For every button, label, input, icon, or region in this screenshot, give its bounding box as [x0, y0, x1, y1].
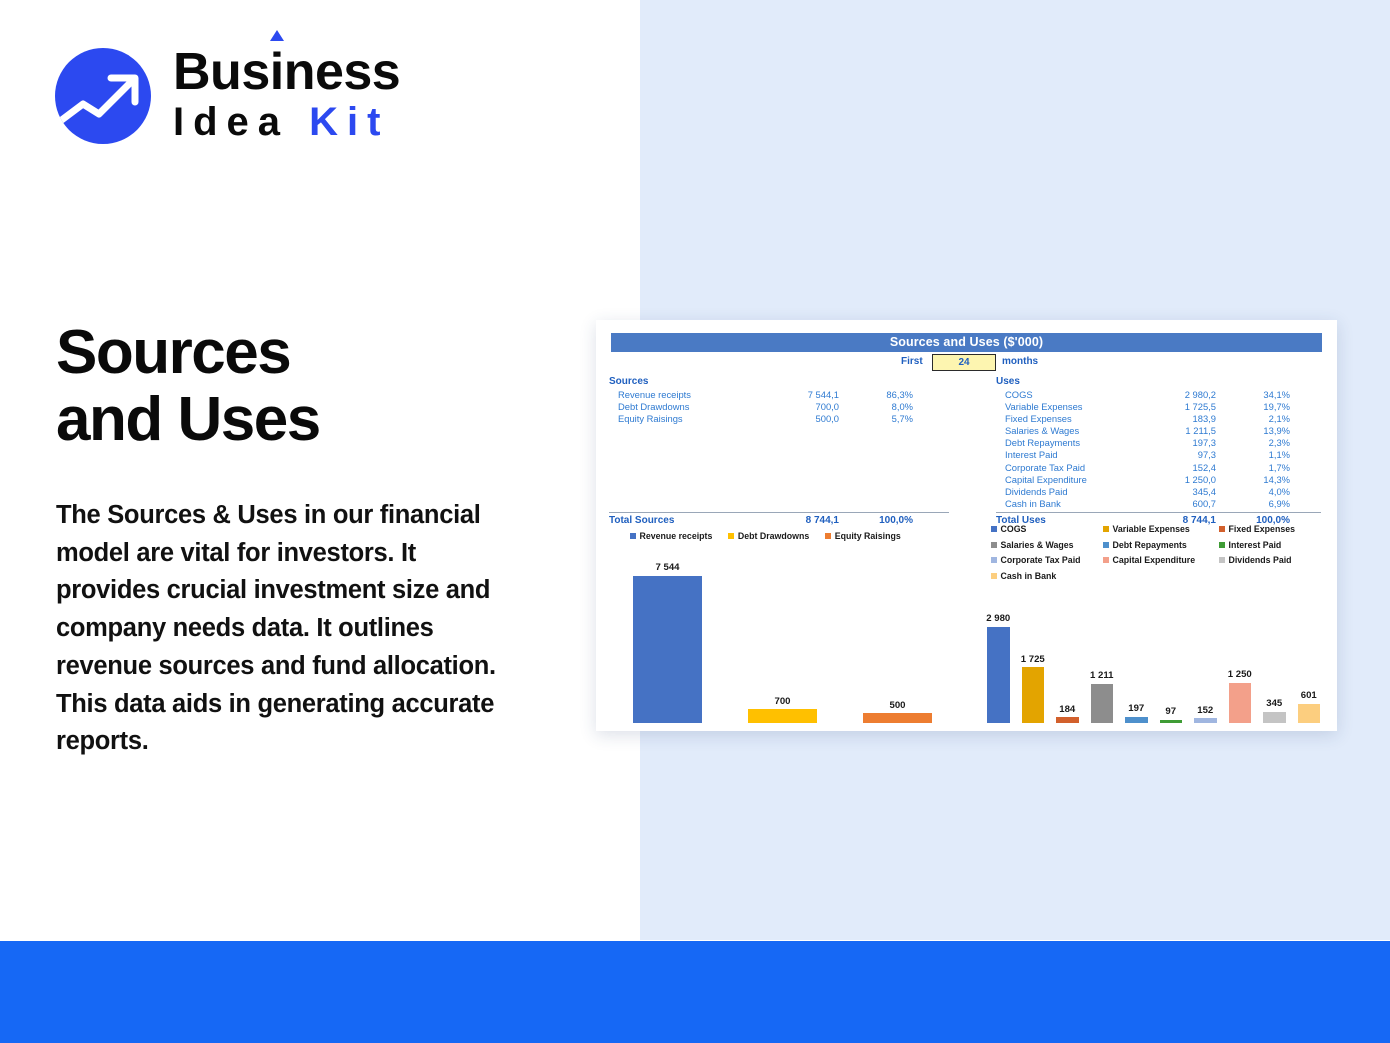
bar-value-label: 2 980 — [986, 613, 1010, 624]
brand-word-idea: Idea — [173, 100, 309, 144]
sources-total-pct: 100,0% — [859, 515, 913, 526]
uses-row-value: 1 250,0 — [1146, 474, 1216, 485]
bar — [987, 627, 1010, 723]
bar — [633, 576, 702, 723]
brand-word-kit: Kit — [309, 100, 389, 144]
legend-item: Corporate Tax Paid — [991, 555, 1103, 565]
uses-row-pct: 14,3% — [1236, 474, 1290, 485]
bar — [1091, 684, 1114, 723]
legend-item: Debt Repayments — [1103, 540, 1219, 550]
sources-row-value: 7 544,1 — [769, 389, 839, 400]
legend-label: Fixed Expenses — [1229, 524, 1296, 534]
brand-logo: Business Idea Kit — [55, 48, 400, 144]
bar-group: 184 — [1050, 573, 1085, 723]
bar-value-label: 1 211 — [1090, 670, 1113, 681]
legend-swatch — [1103, 526, 1109, 532]
uses-row-pct: 1,1% — [1236, 449, 1290, 460]
sources-row-value: 700,0 — [769, 401, 839, 412]
legend-swatch — [991, 542, 997, 548]
bar — [1125, 717, 1148, 723]
period-selector-row: First 24 months — [596, 356, 1337, 373]
bar-value-label: 184 — [1059, 704, 1075, 715]
legend-item: Fixed Expenses — [1219, 524, 1319, 534]
bar-value-label: 1 725 — [1021, 654, 1045, 665]
uses-row-value: 152,4 — [1146, 462, 1216, 473]
bar-group: 152 — [1188, 573, 1223, 723]
legend-swatch — [991, 526, 997, 532]
uses-row: Capital Expenditure1 250,014,3% — [996, 474, 1321, 486]
uses-row-label: Cash in Bank — [1005, 498, 1061, 509]
sources-total-label: Total Sources — [609, 515, 674, 526]
legend-item: Dividends Paid — [1219, 555, 1319, 565]
sources-row-label: Revenue receipts — [618, 389, 691, 400]
uses-row-label: COGS — [1005, 389, 1033, 400]
spreadsheet-card: Sources and Uses ($'000) First 24 months… — [596, 320, 1337, 731]
uses-row-pct: 1,7% — [1236, 462, 1290, 473]
legend-item: COGS — [991, 524, 1103, 534]
sources-bar-chart: 7 544700500 — [610, 538, 955, 723]
uses-row-label: Debt Repayments — [1005, 437, 1080, 448]
legend-label: Debt Repayments — [1113, 540, 1187, 550]
uses-row: Variable Expenses1 725,519,7% — [996, 401, 1321, 413]
sources-row-pct: 5,7% — [859, 413, 913, 424]
bar — [1194, 718, 1217, 723]
uses-row: Dividends Paid345,44,0% — [996, 486, 1321, 498]
bar-group: 2 980 — [981, 573, 1016, 723]
sources-row-pct: 86,3% — [859, 389, 913, 400]
bar-value-label: 700 — [774, 696, 790, 707]
uses-row-value: 1 211,5 — [1146, 425, 1216, 436]
legend-swatch — [1103, 542, 1109, 548]
sources-row: Revenue receipts7 544,186,3% — [609, 389, 949, 401]
legend-swatch — [991, 557, 997, 563]
period-suffix-label: months — [1002, 356, 1038, 367]
uses-row-value: 1 725,5 — [1146, 401, 1216, 412]
bar-value-label: 500 — [889, 700, 905, 711]
uses-table: Uses COGS2 980,234,1%Variable Expenses1 … — [996, 376, 1321, 510]
uses-row-value: 2 980,2 — [1146, 389, 1216, 400]
period-prefix-label: First — [901, 356, 923, 367]
legend-item: Salaries & Wages — [991, 540, 1103, 550]
uses-row: Debt Repayments197,32,3% — [996, 437, 1321, 449]
growth-arrow-icon — [55, 48, 151, 144]
bar-group: 1 211 — [1085, 573, 1120, 723]
bar-value-label: 97 — [1165, 706, 1176, 717]
uses-row-pct: 6,9% — [1236, 498, 1290, 509]
uses-row-label: Dividends Paid — [1005, 486, 1068, 497]
uses-header: Uses — [996, 376, 1321, 389]
legend-item: Capital Expenditure — [1103, 555, 1219, 565]
page-description: The Sources & Uses in our financial mode… — [56, 497, 506, 761]
uses-row-pct: 34,1% — [1236, 389, 1290, 400]
uses-row: Corporate Tax Paid152,41,7% — [996, 462, 1321, 474]
legend-label: Interest Paid — [1229, 540, 1282, 550]
bar-value-label: 345 — [1266, 698, 1282, 709]
legend-swatch — [1219, 526, 1225, 532]
uses-row-pct: 2,1% — [1236, 413, 1290, 424]
sources-total-row: Total Sources 8 744,1 100,0% — [609, 512, 949, 526]
bar-value-label: 1 250 — [1228, 669, 1252, 680]
page-title: Sourcesand Uses — [56, 320, 576, 454]
uses-row: Cash in Bank600,76,9% — [996, 498, 1321, 510]
sources-table: Sources Revenue receipts7 544,186,3%Debt… — [609, 376, 949, 425]
uses-bar-chart: 2 9801 7251841 211197971521 250345601 — [981, 573, 1326, 723]
sources-header: Sources — [609, 376, 949, 389]
bar — [1022, 667, 1045, 723]
bar-value-label: 601 — [1301, 690, 1317, 701]
bar — [863, 713, 932, 723]
uses-row-label: Fixed Expenses — [1005, 413, 1072, 424]
bar-value-label: 197 — [1128, 703, 1144, 714]
sources-row-label: Equity Raisings — [618, 413, 683, 424]
uses-row: Salaries & Wages1 211,513,9% — [996, 425, 1321, 437]
brand-name-secondary: Idea Kit — [173, 100, 400, 144]
uses-row-label: Salaries & Wages — [1005, 425, 1079, 436]
bar — [748, 709, 817, 723]
bar-group: 601 — [1292, 573, 1327, 723]
bar-group: 1 250 — [1223, 573, 1258, 723]
bar-group: 345 — [1257, 573, 1292, 723]
uses-row-label: Interest Paid — [1005, 449, 1058, 460]
legend-label: Capital Expenditure — [1113, 555, 1196, 565]
legend-label: Salaries & Wages — [1001, 540, 1074, 550]
legend-swatch — [1219, 542, 1225, 548]
bar-group: 7 544 — [610, 538, 725, 723]
uses-row-pct: 2,3% — [1236, 437, 1290, 448]
uses-row-value: 600,7 — [1146, 498, 1216, 509]
legend-swatch — [1219, 557, 1225, 563]
uses-row-value: 345,4 — [1146, 486, 1216, 497]
uses-row-pct: 4,0% — [1236, 486, 1290, 497]
sources-row-label: Debt Drawdowns — [618, 401, 689, 412]
sheet-title: Sources and Uses ($'000) — [611, 333, 1322, 352]
bar — [1298, 704, 1321, 723]
sources-total-value: 8 744,1 — [769, 515, 839, 526]
uses-row-value: 183,9 — [1146, 413, 1216, 424]
legend-item: Variable Expenses — [1103, 524, 1219, 534]
bar-value-label: 152 — [1197, 705, 1213, 716]
uses-row-pct: 13,9% — [1236, 425, 1290, 436]
uses-row: Fixed Expenses183,92,1% — [996, 413, 1321, 425]
bar-value-label: 7 544 — [655, 562, 679, 573]
bar — [1263, 712, 1286, 723]
sources-row-pct: 8,0% — [859, 401, 913, 412]
uses-row: Interest Paid97,31,1% — [996, 449, 1321, 461]
bar-group: 97 — [1154, 573, 1189, 723]
bar-group: 500 — [840, 538, 955, 723]
legend-swatch — [1103, 557, 1109, 563]
legend-label: COGS — [1001, 524, 1027, 534]
uses-row: COGS2 980,234,1% — [996, 389, 1321, 401]
legend-label: Variable Expenses — [1113, 524, 1190, 534]
uses-row-pct: 19,7% — [1236, 401, 1290, 412]
legend-item: Interest Paid — [1219, 540, 1319, 550]
bar — [1160, 720, 1183, 723]
sources-row: Equity Raisings500,05,7% — [609, 413, 949, 425]
uses-row-value: 97,3 — [1146, 449, 1216, 460]
months-input[interactable]: 24 — [932, 354, 996, 371]
sources-row: Debt Drawdowns700,08,0% — [609, 401, 949, 413]
legend-label: Dividends Paid — [1229, 555, 1292, 565]
footer-band — [0, 941, 1390, 1043]
legend-label: Corporate Tax Paid — [1001, 555, 1081, 565]
bar-group: 197 — [1119, 573, 1154, 723]
bar — [1056, 717, 1079, 723]
uses-row-label: Variable Expenses — [1005, 401, 1082, 412]
sources-row-value: 500,0 — [769, 413, 839, 424]
bar-group: 700 — [725, 538, 840, 723]
uses-row-value: 197,3 — [1146, 437, 1216, 448]
bar — [1229, 683, 1252, 723]
bar-group: 1 725 — [1016, 573, 1051, 723]
uses-row-label: Corporate Tax Paid — [1005, 462, 1085, 473]
brand-name-primary: Business — [173, 48, 400, 97]
uses-row-label: Capital Expenditure — [1005, 474, 1087, 485]
